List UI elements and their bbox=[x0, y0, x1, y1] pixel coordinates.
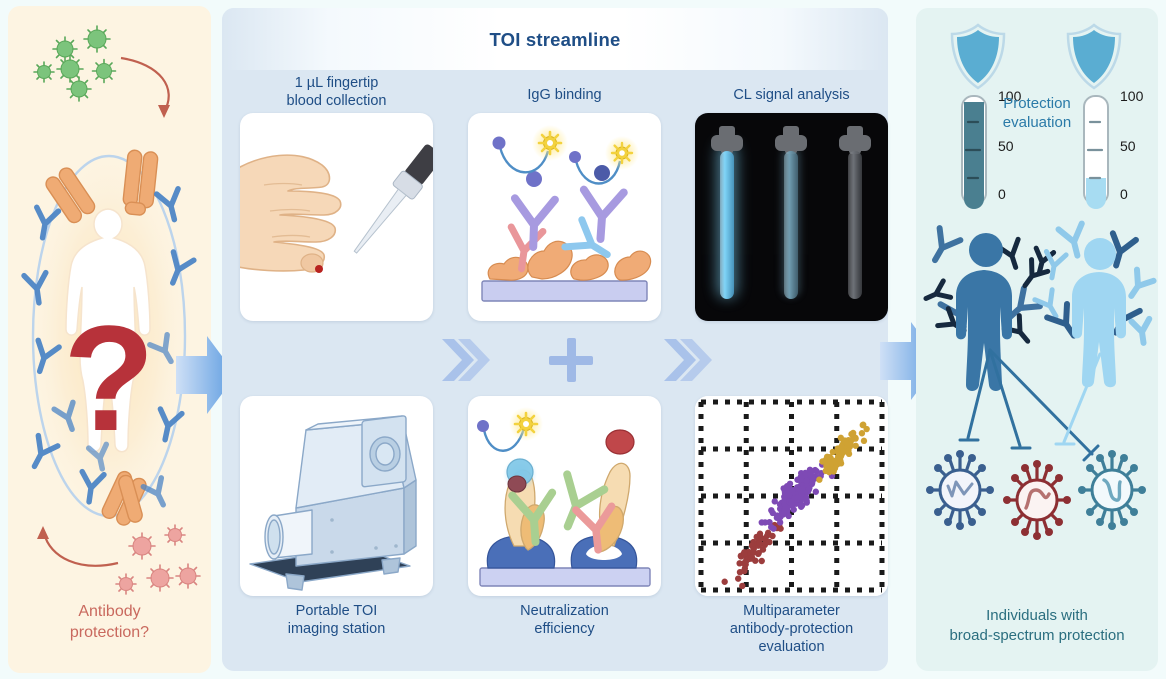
protection-network-diagram bbox=[916, 214, 1158, 604]
right-caption-line2: broad-spectrum protection bbox=[949, 627, 1124, 644]
tube-medium-signal bbox=[775, 126, 807, 299]
gauge1-tick-0: 0 bbox=[998, 186, 1006, 202]
gauge1-tick-50: 50 bbox=[998, 138, 1014, 154]
caption-line-1: Neutralization bbox=[520, 603, 609, 619]
high-protection-gauge bbox=[962, 96, 986, 209]
caption-line-1: 1 µL fingertip bbox=[295, 75, 379, 91]
hand-icon bbox=[240, 155, 341, 273]
gauge2-tick-50: 50 bbox=[1120, 138, 1136, 154]
igg-binding-illustration bbox=[468, 113, 661, 321]
card-fingertip-blood-collection[interactable] bbox=[240, 113, 433, 321]
pipette-icon bbox=[345, 142, 433, 260]
tube-cap bbox=[711, 126, 743, 154]
caption-cl-signal-analysis: CL signal analysis bbox=[695, 86, 888, 104]
caption-portable-toi-imaging-station: Portable TOI imaging station bbox=[240, 602, 433, 638]
caption-line-1: IgG binding bbox=[527, 87, 601, 103]
label-line-2: evaluation bbox=[1003, 114, 1071, 131]
low-protection-gauge bbox=[1084, 96, 1108, 209]
caption-igg-binding: IgG binding bbox=[468, 86, 661, 104]
virus-variant-3 bbox=[1078, 450, 1146, 530]
right-panel-caption: Individuals with broad-spectrum protecti… bbox=[916, 606, 1158, 646]
caption-line-2: antibody-protection bbox=[730, 621, 853, 637]
virus-variant-2 bbox=[1003, 460, 1071, 540]
secondary-antibodies bbox=[513, 190, 624, 248]
caption-line-1: Multiparameter bbox=[743, 603, 840, 619]
card-igg-binding[interactable] bbox=[468, 113, 661, 321]
left-panel-caption: Antibody protection? bbox=[8, 601, 211, 643]
scientific-figure: ? Antibody protection? bbox=[0, 0, 1166, 679]
pink-virus-cluster bbox=[120, 529, 197, 591]
shield-icon-low bbox=[1068, 25, 1120, 88]
caption-line-1: Portable TOI bbox=[296, 603, 378, 619]
left-caption-line2: protection? bbox=[70, 624, 149, 641]
label-node-left bbox=[526, 171, 542, 187]
tube-high-signal bbox=[711, 126, 743, 299]
tube-low-signal bbox=[839, 126, 871, 299]
substrate-plate bbox=[482, 281, 647, 301]
linker-and-label bbox=[477, 407, 543, 451]
caption-fingertip-blood-collection: 1 µL fingertip blood collection bbox=[240, 74, 433, 110]
chevron-connector-right bbox=[662, 337, 706, 383]
green-virus-cluster bbox=[34, 26, 116, 101]
card-cl-signal-analysis[interactable] bbox=[695, 113, 888, 321]
substrate-plate bbox=[480, 568, 650, 586]
caption-line-1: CL signal analysis bbox=[733, 87, 849, 103]
card-multiparameter-evaluation[interactable] bbox=[695, 396, 888, 596]
linker-left bbox=[493, 125, 569, 172]
outgoing-arrow bbox=[37, 526, 118, 566]
right-caption-line1: Individuals with bbox=[986, 607, 1088, 624]
imaging-station-illustration bbox=[240, 396, 433, 596]
virus-variant-1 bbox=[926, 450, 994, 530]
middle-panel-title: TOI streamline bbox=[222, 29, 888, 51]
label-line-1: Protection bbox=[1003, 95, 1071, 112]
card-portable-toi-imaging-station[interactable] bbox=[240, 396, 433, 596]
shield-icon-high bbox=[952, 25, 1004, 88]
neutralization-illustration bbox=[468, 396, 661, 596]
caption-line-3: evaluation bbox=[758, 639, 824, 655]
protection-evaluation-label: Protection evaluation bbox=[990, 94, 1084, 132]
hand-with-pipette-illustration bbox=[240, 113, 433, 321]
gauge2-tick-100: 100 bbox=[1120, 88, 1143, 104]
label-node-right bbox=[594, 165, 610, 181]
glowing-tubes-illustration bbox=[695, 113, 888, 321]
incoming-arrow bbox=[121, 58, 170, 118]
plus-connector bbox=[549, 338, 593, 382]
card-neutralization-efficiency[interactable] bbox=[468, 396, 661, 596]
left-caption-line1: Antibody bbox=[78, 603, 140, 620]
right-panel-protection-outcome: 100 50 0 100 50 0 Protection evaluation bbox=[916, 8, 1158, 671]
caption-line-2: blood collection bbox=[287, 93, 387, 109]
question-mark: ? bbox=[63, 294, 155, 462]
caption-multiparameter-evaluation: Multiparameter antibody-protection evalu… bbox=[695, 602, 888, 656]
chevron-connector-left bbox=[440, 337, 484, 383]
well-protected-individual bbox=[956, 233, 1012, 391]
scatter-plot bbox=[695, 396, 888, 596]
gauge2-tick-0: 0 bbox=[1120, 186, 1128, 202]
caption-line-2: efficiency bbox=[534, 621, 594, 637]
caption-neutralization-efficiency: Neutralization efficiency bbox=[468, 602, 661, 638]
caption-line-2: imaging station bbox=[288, 621, 386, 637]
